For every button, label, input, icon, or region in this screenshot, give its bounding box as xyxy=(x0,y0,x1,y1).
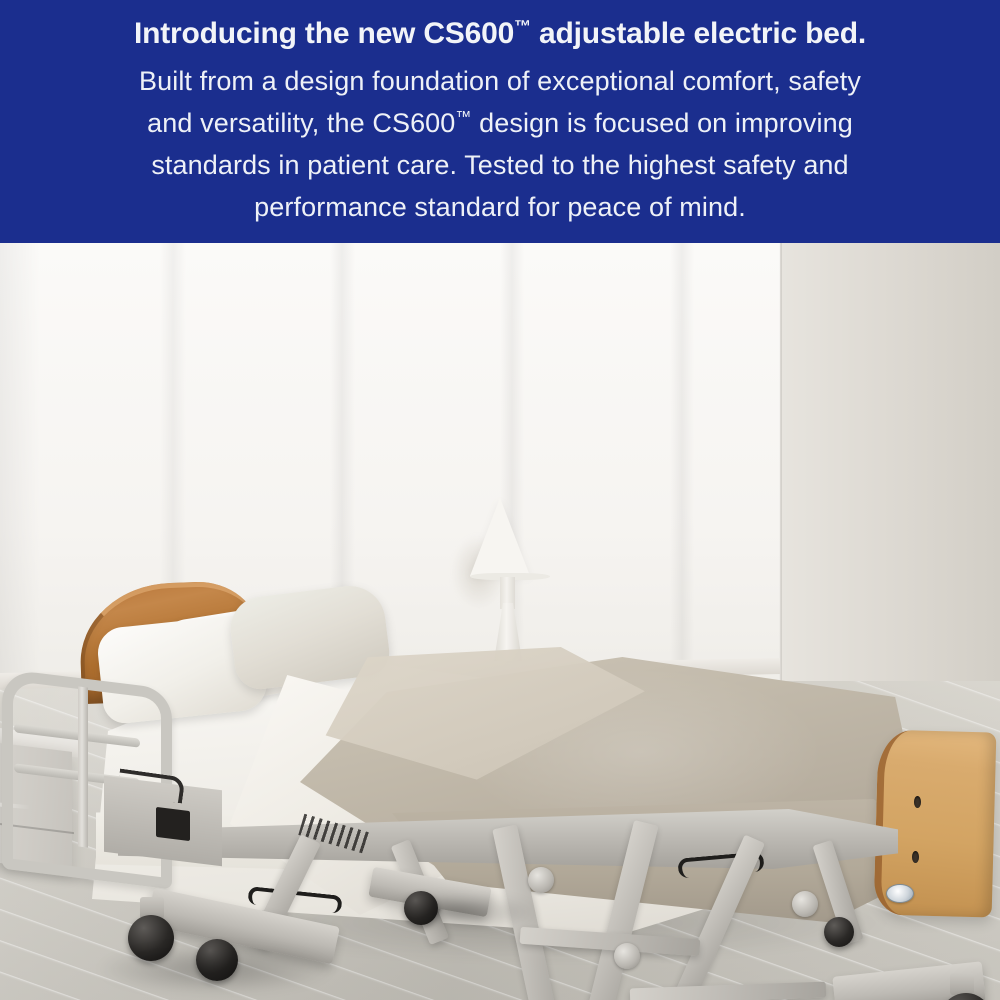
poster-canvas: Introducing the new CS600™ adjustable el… xyxy=(0,0,1000,1000)
side-wall xyxy=(780,243,1000,683)
description-line-2: and versatility, the CS600™ design is fo… xyxy=(24,102,976,144)
lift-pivot xyxy=(614,943,640,969)
headline-banner: Introducing the new CS600™ adjustable el… xyxy=(0,0,1000,243)
banner-description: Built from a design foundation of except… xyxy=(24,60,976,228)
page-title: Introducing the new CS600™ adjustable el… xyxy=(24,14,976,54)
lift-pivot xyxy=(528,867,554,893)
description-line-3: standards in patient care. Tested to the… xyxy=(24,144,976,186)
footboard-slot-lower xyxy=(912,851,919,863)
product-photo xyxy=(0,243,1000,1000)
description-line-1: Built from a design foundation of except… xyxy=(24,60,976,102)
title-prefix: Introducing the new CS600 xyxy=(134,17,514,50)
wall-corner-edge xyxy=(779,243,782,683)
caster-yoke xyxy=(950,973,974,995)
caster-wheel xyxy=(824,917,854,947)
description-line-4: performance standard for peace of mind. xyxy=(24,186,976,228)
description-line-2-part-b: design is focused on improving xyxy=(472,108,853,138)
title-suffix: adjustable electric bed. xyxy=(531,17,866,50)
description-line-2-part-a: and versatility, the CS600 xyxy=(147,108,455,138)
footboard-badge xyxy=(886,884,914,903)
trademark-icon: ™ xyxy=(455,109,471,126)
caster-shadow xyxy=(96,943,336,995)
side-rail-post xyxy=(78,686,88,847)
deck-control-recess xyxy=(156,807,190,841)
lamp-shade xyxy=(470,498,530,576)
trademark-icon: ™ xyxy=(514,17,531,36)
footboard-slot-upper xyxy=(914,796,921,808)
caster-shadow xyxy=(380,893,540,931)
lift-pivot xyxy=(792,891,818,917)
